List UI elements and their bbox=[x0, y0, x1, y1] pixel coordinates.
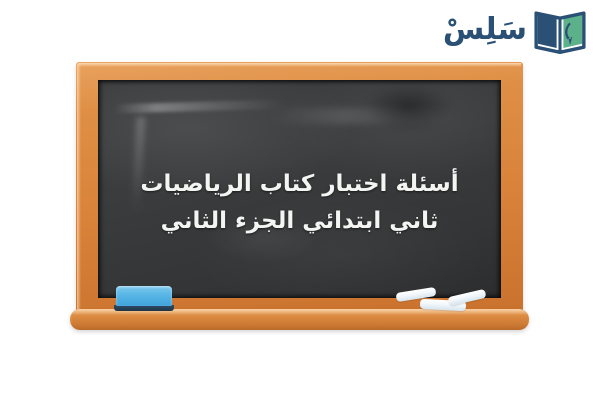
headline-line-1: أسئلة اختبار كتاب الرياضيات bbox=[116, 166, 483, 203]
brand-logo[interactable]: سَلِسْ bbox=[443, 8, 586, 54]
blackboard: أسئلة اختبار كتاب الرياضيات ثاني ابتدائي… bbox=[76, 62, 523, 332]
banner-canvas: سَلِسْ أسئلة اختبار كتاب الرياضيات ثاني … bbox=[0, 0, 600, 400]
headline-line-2: ثاني ابتدائي الجزء الثاني bbox=[116, 203, 483, 240]
chalk-smudge bbox=[364, 84, 453, 132]
chalk-smudge bbox=[267, 108, 460, 124]
blackboard-headline: أسئلة اختبار كتاب الرياضيات ثاني ابتدائي… bbox=[98, 166, 501, 241]
blackboard-slate-surface: أسئلة اختبار كتاب الرياضيات ثاني ابتدائي… bbox=[98, 80, 501, 298]
frame-top-highlight bbox=[78, 63, 521, 67]
open-book-icon bbox=[534, 8, 586, 54]
frame-left-highlight bbox=[77, 64, 81, 312]
blackboard-frame: أسئلة اختبار كتاب الرياضيات ثاني ابتدائي… bbox=[76, 62, 523, 314]
chalkboard-eraser[interactable] bbox=[116, 286, 172, 312]
ledge-wood-grain bbox=[70, 309, 529, 330]
chalk-smudge bbox=[114, 99, 283, 113]
chalk-ledge bbox=[70, 309, 529, 330]
brand-wordmark: سَلِسْ bbox=[443, 15, 527, 48]
eraser-body bbox=[116, 286, 172, 306]
